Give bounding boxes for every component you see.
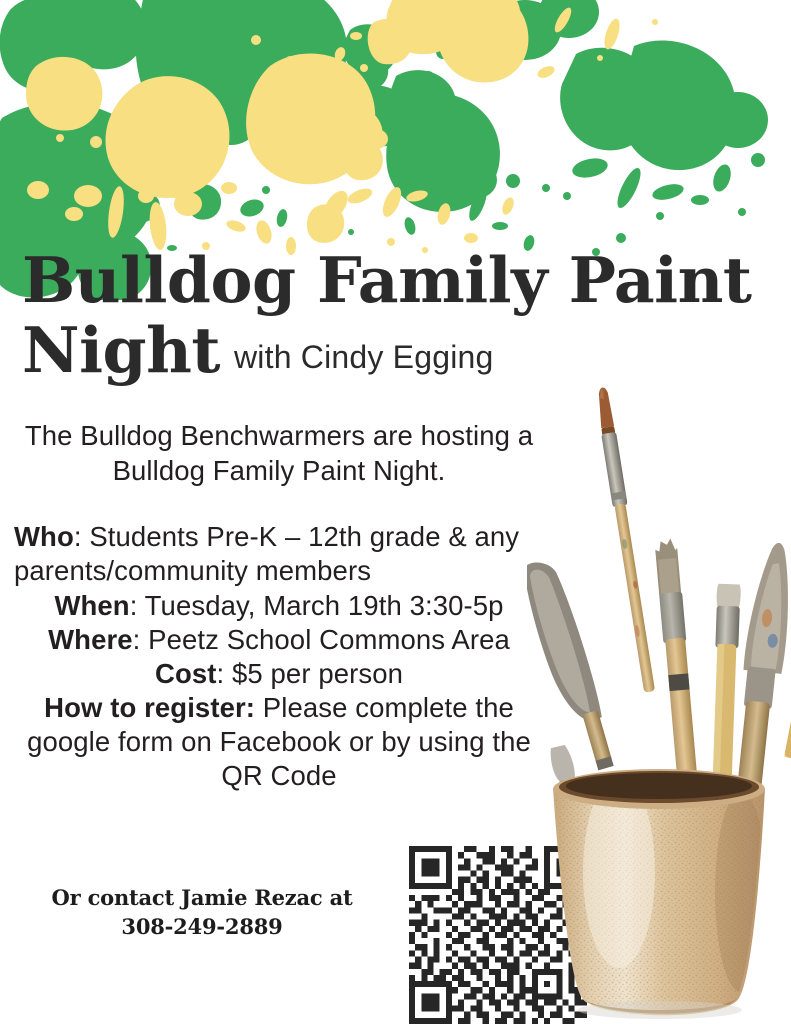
contact-phone: 308-249-2889 <box>22 913 382 942</box>
headline-block: Bulldog Family Paint Night with Cindy Eg… <box>22 248 767 383</box>
detail-when: When: Tuesday, March 19th 3:30-5p <box>14 589 544 623</box>
flyer-page: Bulldog Family Paint Night with Cindy Eg… <box>0 0 791 1024</box>
detail-where-sep: : <box>133 624 148 655</box>
yellow-splatter-group <box>26 0 658 255</box>
detail-register-sep <box>255 692 263 723</box>
detail-when-label: When <box>54 590 129 621</box>
detail-who: Who: Students Pre-K – 12th grade & any p… <box>14 520 544 588</box>
detail-when-value: Tuesday, March 19th 3:30-5p <box>145 590 504 621</box>
detail-where: Where: Peetz School Commons Area <box>14 623 544 657</box>
paintbrush-cup-photo <box>527 372 791 1024</box>
page-title-line2: Night <box>22 318 220 382</box>
detail-when-sep: : <box>130 590 145 621</box>
details-list: Who: Students Pre-K – 12th grade & any p… <box>14 520 544 793</box>
detail-who-label: Who <box>14 521 74 552</box>
contact-name-line: Or contact Jamie Rezac at <box>52 885 353 910</box>
detail-cost-value: $5 per person <box>232 658 403 689</box>
detail-how-to-register: How to register: Please complete the goo… <box>14 691 544 793</box>
detail-where-value: Peetz School Commons Area <box>148 624 510 655</box>
detail-who-value: Students Pre-K – 12th grade & any parent… <box>14 521 519 586</box>
detail-who-sep: : <box>74 521 89 552</box>
intro-paragraph: The Bulldog Benchwarmers are hosting a B… <box>14 418 544 488</box>
detail-cost: Cost: $5 per person <box>14 657 544 691</box>
page-title-line1: Bulldog Family Paint <box>22 248 767 312</box>
body-copy: The Bulldog Benchwarmers are hosting a B… <box>14 418 544 793</box>
detail-cost-sep: : <box>217 658 232 689</box>
detail-where-label: Where <box>48 624 133 655</box>
ceramic-cup <box>527 769 791 1024</box>
presenter-subtitle: with Cindy Egging <box>234 339 494 376</box>
contact-block: Or contact Jamie Rezac at 308-249-2889 <box>22 884 382 942</box>
detail-register-label: How to register: <box>44 692 255 723</box>
detail-cost-label: Cost <box>155 658 217 689</box>
